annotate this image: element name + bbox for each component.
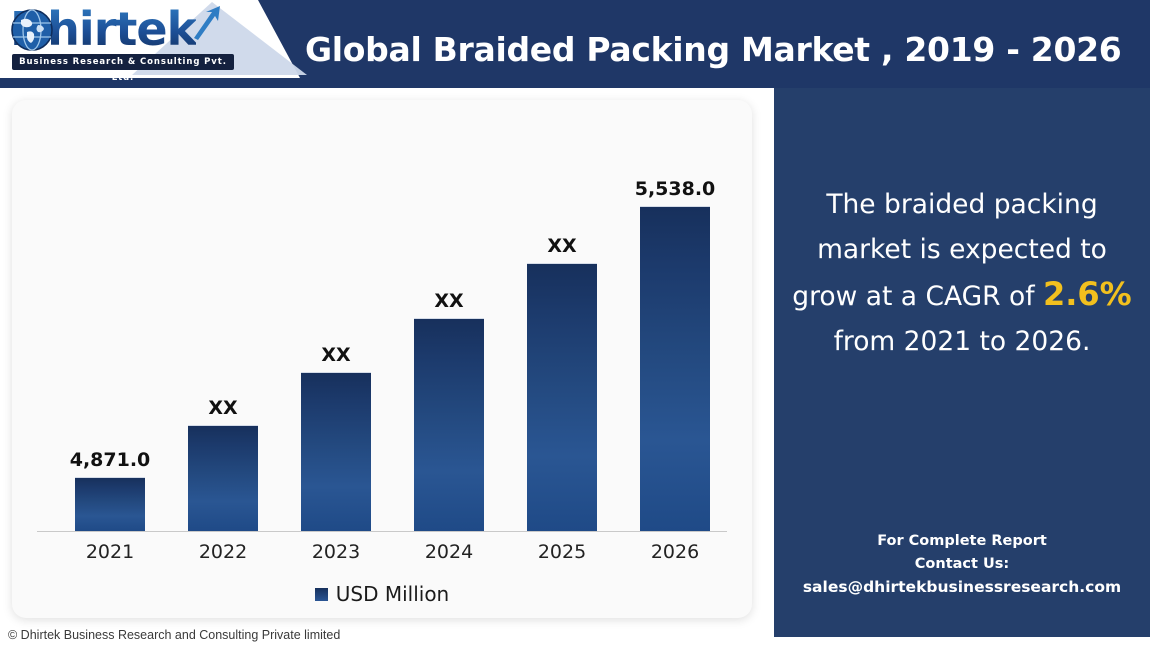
bar-value-label-2025: XX — [507, 235, 617, 257]
chart-plot-area: 4,871.0XXXXXXXX5,538.0 — [12, 100, 752, 540]
legend-swatch-usd-million — [315, 588, 328, 601]
contact-heading: For Complete Report — [780, 530, 1144, 553]
bar-2021 — [75, 477, 145, 531]
bar-2025 — [527, 263, 597, 531]
bar-value-label-2026: 5,538.0 — [620, 178, 730, 200]
contact-subheading: Contact Us: — [780, 553, 1144, 576]
cagr-statement-suffix: from 2021 to 2026. — [834, 326, 1091, 357]
x-tick-2022: 2022 — [168, 541, 278, 563]
x-tick-2026: 2026 — [620, 541, 730, 563]
chart-legend: USD Million — [12, 580, 752, 608]
bar-2024 — [414, 318, 484, 531]
contact-block: For Complete Report Contact Us: sales@dh… — [780, 530, 1144, 599]
bar-2026 — [640, 206, 710, 531]
copyright-notice: © Dhirtek Business Research and Consulti… — [8, 628, 340, 642]
bar-2023 — [301, 372, 371, 531]
bar-series: 4,871.0XXXXXXXX5,538.0 — [12, 100, 752, 540]
x-axis-labels: 202120222023202420252026 — [12, 537, 752, 571]
cagr-statement: The braided packing market is expected t… — [788, 182, 1136, 364]
cagr-value: 2.6% — [1043, 275, 1132, 313]
x-tick-2024: 2024 — [394, 541, 504, 563]
summary-panel: The braided packing market is expected t… — [774, 88, 1150, 637]
header-bar: Dhirtek Business Research & Consulting P… — [0, 0, 1150, 88]
logo-tagline: Business Research & Consulting Pvt. Ltd. — [12, 54, 234, 70]
bar-value-label-2022: XX — [168, 397, 278, 419]
bar-value-label-2024: XX — [394, 290, 504, 312]
x-tick-2021: 2021 — [55, 541, 165, 563]
legend-label-usd-million: USD Million — [336, 582, 450, 606]
globe-icon — [10, 8, 54, 52]
x-tick-2025: 2025 — [507, 541, 617, 563]
contact-email[interactable]: sales@dhirtekbusinessresearch.com — [780, 576, 1144, 599]
bar-value-label-2023: XX — [281, 344, 391, 366]
growth-arrow-icon — [190, 4, 224, 40]
chart-card: 4,871.0XXXXXXXX5,538.0 20212022202320242… — [12, 100, 752, 618]
infographic-page: Dhirtek Business Research & Consulting P… — [0, 0, 1150, 647]
bar-value-label-2021: 4,871.0 — [55, 449, 165, 471]
bar-2022 — [188, 425, 258, 531]
company-logo[interactable]: Dhirtek Business Research & Consulting P… — [4, 2, 239, 72]
x-tick-2023: 2023 — [281, 541, 391, 563]
page-title: Global Braided Packing Market , 2019 - 2… — [305, 28, 1145, 76]
